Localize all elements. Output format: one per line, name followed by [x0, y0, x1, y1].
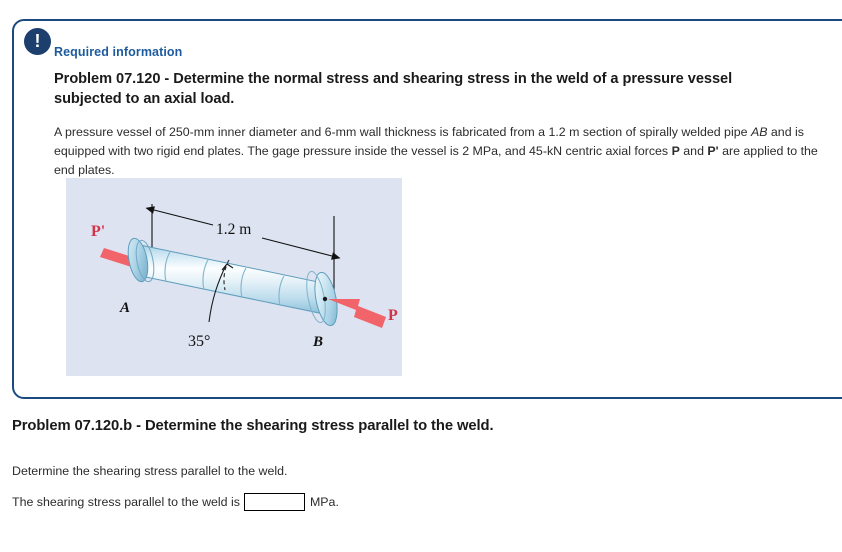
- required-information-panel: ! Required information Problem 07.120 - …: [12, 19, 842, 399]
- angle-label: 35°: [188, 333, 210, 350]
- sub-problem-title: Problem 07.120.b - Determine the shearin…: [12, 418, 832, 434]
- pressure-vessel-svg: 1.2 m: [66, 178, 402, 376]
- dimension-label: 1.2 m: [216, 221, 251, 238]
- problem-description-part1: A pressure vessel of 250-mm inner diamet…: [54, 125, 751, 139]
- problem-title: Problem 07.120 - Determine the normal st…: [54, 70, 794, 109]
- problem-description: A pressure vessel of 250-mm inner diamet…: [54, 123, 836, 180]
- right-center-point: [323, 297, 327, 301]
- label-a: A: [119, 300, 130, 316]
- question-prompt: Determine the shearing stress parallel t…: [12, 464, 832, 478]
- answer-input[interactable]: [244, 493, 305, 511]
- question-block: Problem 07.120.b - Determine the shearin…: [12, 418, 832, 511]
- answer-row: The shearing stress parallel to the weld…: [12, 493, 832, 511]
- answer-unit: MPa.: [310, 495, 339, 509]
- force-p-inline: P: [672, 144, 680, 158]
- pipe-label-ab: AB: [751, 125, 768, 139]
- pressure-vessel-figure: 1.2 m: [66, 178, 402, 376]
- force-p-prime-inline: P': [707, 144, 718, 158]
- force-label-p-prime: P': [91, 223, 105, 240]
- exclamation-icon: !: [24, 28, 51, 55]
- problem-description-part3: and: [680, 144, 708, 158]
- label-b: B: [312, 334, 323, 350]
- force-label-p: P: [388, 307, 398, 324]
- required-information-label: Required information: [54, 45, 842, 59]
- panel-content: Required information Problem 07.120 - De…: [54, 45, 842, 180]
- answer-label: The shearing stress parallel to the weld…: [12, 495, 240, 509]
